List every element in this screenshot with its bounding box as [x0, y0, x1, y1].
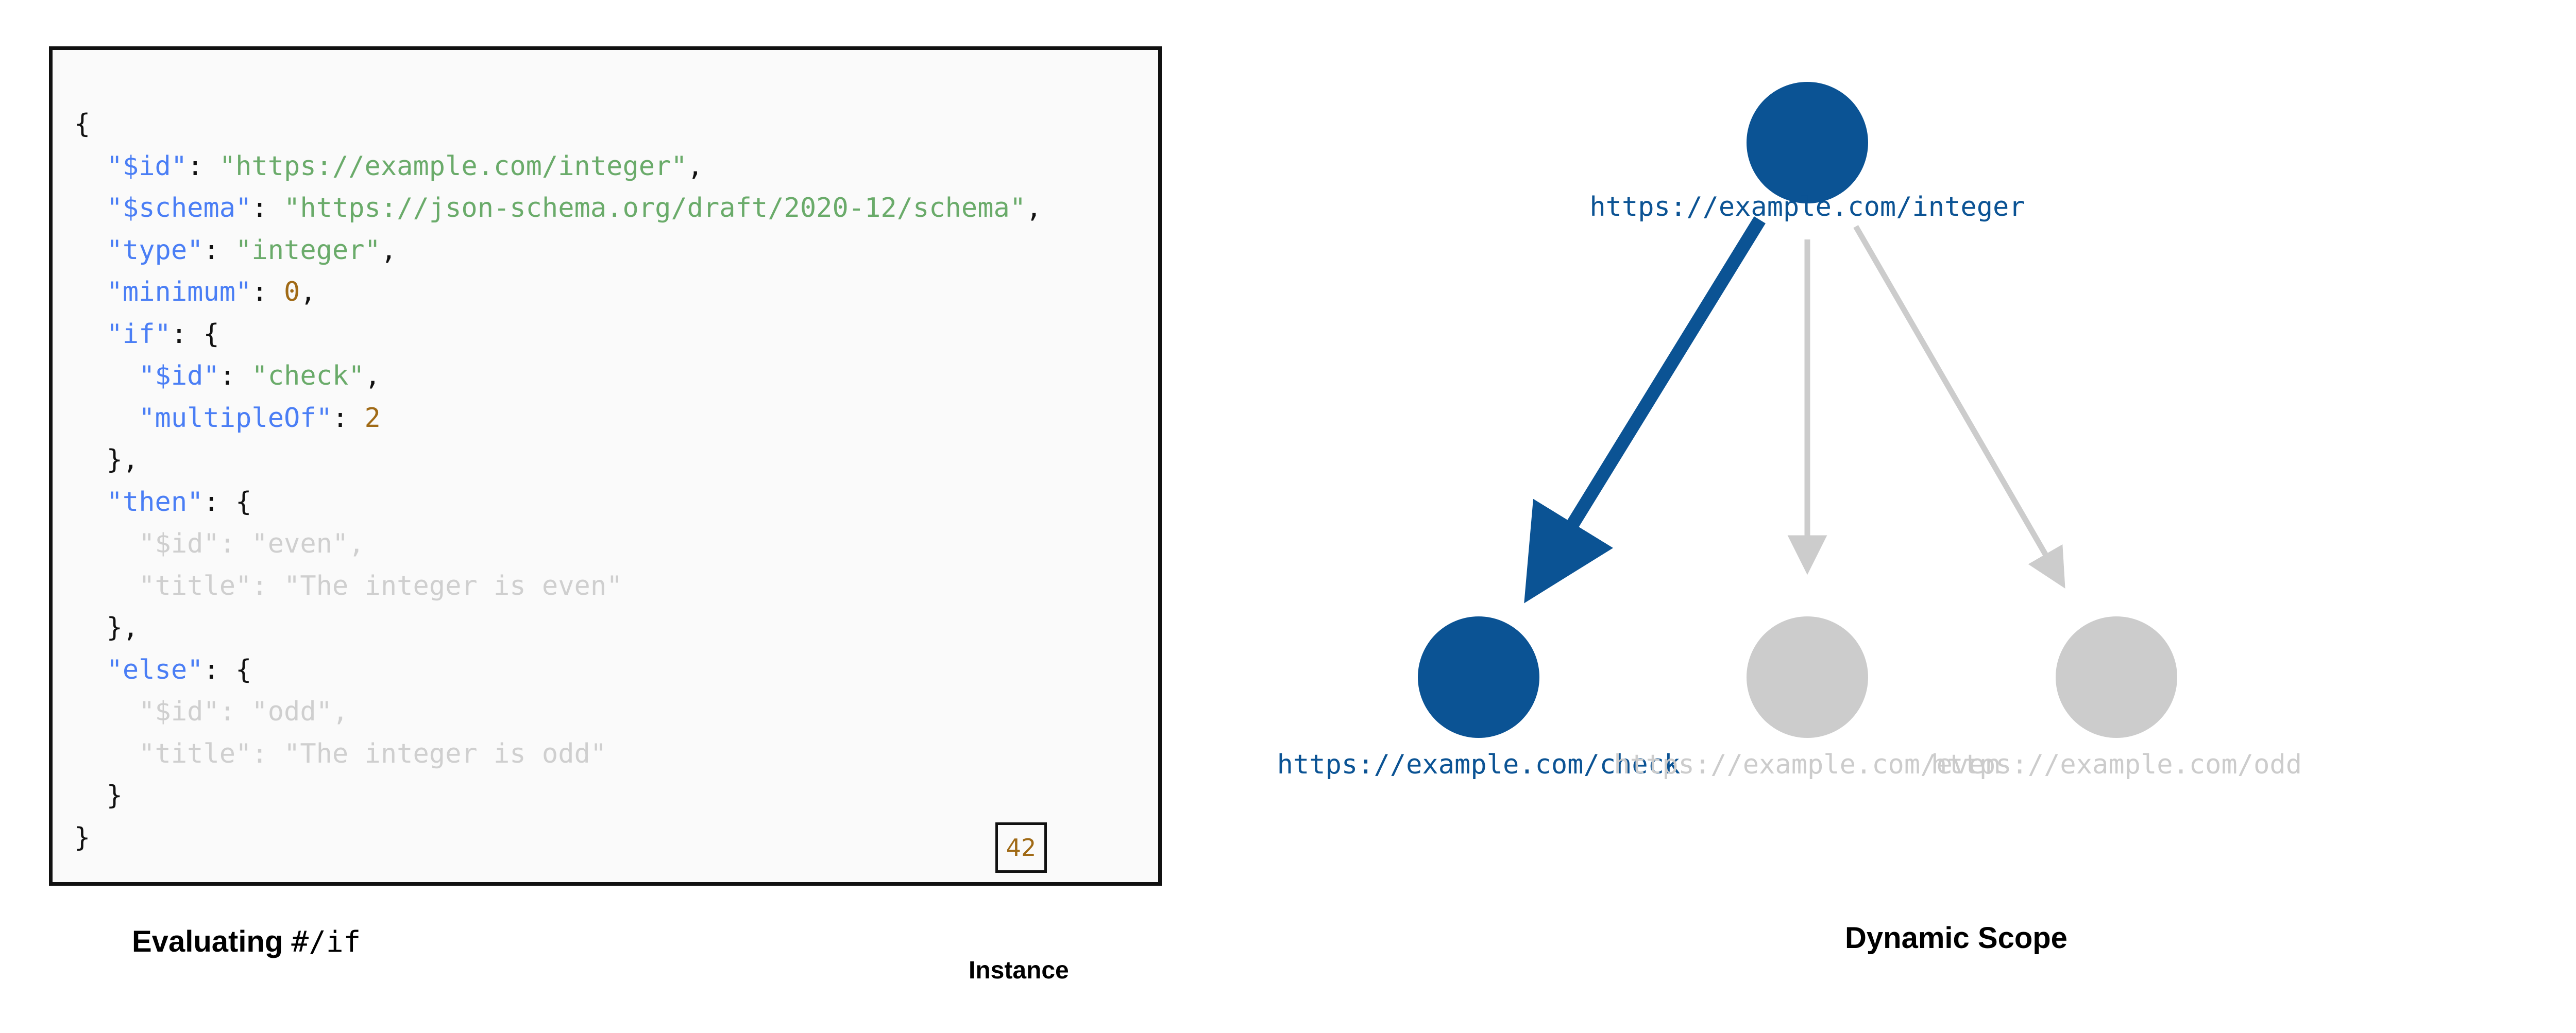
code-token	[74, 193, 107, 223]
code-token: : {	[171, 319, 219, 350]
code-line: },	[74, 607, 1042, 649]
code-token	[74, 655, 107, 685]
graph-edges	[1536, 220, 2060, 583]
code-token: :	[219, 360, 252, 391]
code-token: "minimum"	[107, 277, 252, 307]
code-token	[74, 319, 107, 350]
instance-value: 42	[1006, 836, 1037, 859]
code-token	[74, 235, 107, 266]
code-token: :	[219, 696, 252, 727]
code-line: {	[74, 104, 1042, 146]
code-token	[74, 403, 139, 434]
code-token: "check"	[251, 360, 364, 391]
code-token: }	[74, 822, 90, 853]
code-token: "https://example.com/integer"	[219, 151, 687, 182]
code-token: :	[219, 528, 252, 559]
code-token: "$id"	[139, 528, 219, 559]
code-line: "then": {	[74, 481, 1042, 524]
code-token: : {	[203, 655, 251, 685]
dynamic-scope-caption: Dynamic Scope	[1845, 921, 2067, 955]
code-line: "$schema": "https://json-schema.org/draf…	[74, 187, 1042, 230]
code-token: "odd"	[251, 696, 332, 727]
code-line: "minimum": 0,	[74, 271, 1042, 314]
instance-caption: Instance	[969, 956, 1069, 985]
code-line: "$id": "check",	[74, 355, 1042, 398]
code-token: ,	[1026, 193, 1042, 223]
evaluating-caption-pointer: #/if	[291, 925, 361, 959]
code-token: "title"	[139, 571, 251, 601]
code-line: }	[74, 817, 1042, 859]
code-token: "even"	[251, 528, 348, 559]
code-token: ,	[381, 235, 397, 266]
code-line: "else": {	[74, 649, 1042, 692]
graph-edge-integer-to-check	[1536, 220, 1760, 583]
code-token: }	[74, 780, 123, 811]
code-token: :	[203, 235, 235, 266]
graph-node-odd[interactable]	[2056, 616, 2177, 738]
code-token: "title"	[139, 738, 251, 769]
code-token: "type"	[107, 235, 204, 266]
code-token: :	[251, 571, 284, 601]
code-token: 2	[365, 403, 381, 434]
code-token: :	[251, 277, 284, 307]
code-token	[74, 487, 107, 518]
dynamic-scope-graph	[1236, 0, 2576, 1033]
code-token: "$id"	[107, 151, 188, 182]
code-token: "The integer is odd"	[284, 738, 606, 769]
code-token: ,	[687, 151, 703, 182]
code-token: ,	[332, 696, 348, 727]
code-token: "multipleOf"	[139, 403, 332, 434]
code-token: "The integer is even"	[284, 571, 622, 601]
code-token: "$id"	[139, 696, 219, 727]
code-token	[74, 360, 139, 391]
code-token: },	[74, 444, 139, 475]
code-line: "title": "The integer is even"	[74, 565, 1042, 608]
code-token	[74, 738, 139, 769]
code-token: "$id"	[139, 360, 219, 391]
graph-nodes	[1418, 82, 2177, 738]
code-token: "if"	[107, 319, 171, 350]
code-token	[74, 151, 107, 182]
code-token: 0	[284, 277, 300, 307]
code-line: "title": "The integer is odd"	[74, 733, 1042, 776]
graph-node-even[interactable]	[1747, 616, 1868, 738]
code-line: "$id": "odd",	[74, 691, 1042, 733]
code-token: ,	[348, 528, 364, 559]
code-line: "$id": "https://example.com/integer",	[74, 146, 1042, 188]
graph-node-integer[interactable]	[1747, 82, 1868, 203]
code-token: ,	[365, 360, 381, 391]
evaluating-caption: Evaluating #/if	[132, 924, 361, 959]
code-token: :	[332, 403, 365, 434]
code-token	[74, 571, 139, 601]
graph-node-label-integer: https://example.com/integer	[1589, 192, 2025, 222]
code-line: "$id": "even",	[74, 523, 1042, 565]
code-token: ,	[300, 277, 316, 307]
code-token: "integer"	[235, 235, 381, 266]
code-token: :	[251, 738, 284, 769]
code-line: },	[74, 439, 1042, 481]
graph-node-check[interactable]	[1418, 616, 1539, 738]
code-token: {	[74, 109, 90, 140]
evaluating-caption-text: Evaluating	[132, 925, 291, 958]
code-token	[74, 277, 107, 307]
graph-edge-integer-to-odd	[1856, 227, 2060, 580]
schema-code-box: { "$id": "https://example.com/integer", …	[49, 46, 1162, 886]
code-token: : {	[203, 487, 251, 518]
code-line: "type": "integer",	[74, 230, 1042, 272]
code-token	[74, 696, 139, 727]
code-line: "if": {	[74, 314, 1042, 356]
code-line: "multipleOf": 2	[74, 398, 1042, 440]
code-token: },	[74, 612, 139, 643]
evaluating-schema-panel: { "$id": "https://example.com/integer", …	[0, 0, 1236, 1033]
code-token: "https://json-schema.org/draft/2020-12/s…	[284, 193, 1026, 223]
code-token: :	[251, 193, 284, 223]
instance-box: 42	[995, 822, 1047, 873]
code-token: "then"	[107, 487, 204, 518]
code-token: "$schema"	[107, 193, 252, 223]
code-token	[74, 528, 139, 559]
dynamic-scope-panel: https://example.com/integerhttps://examp…	[1236, 0, 2576, 1033]
code-line: }	[74, 775, 1042, 817]
schema-code-listing: { "$id": "https://example.com/integer", …	[74, 104, 1042, 859]
graph-node-label-odd: https://example.com/odd	[1931, 749, 2302, 780]
code-token: "else"	[107, 655, 204, 685]
code-token: :	[187, 151, 219, 182]
